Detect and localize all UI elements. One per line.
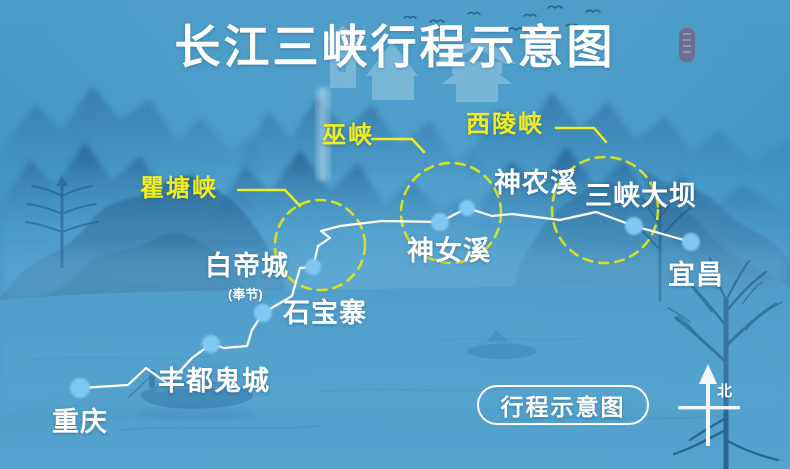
river-route-line (80, 208, 691, 388)
trip-map: 长江三峡行程示意图 瞿塘峡 巫峡 西陵峡 重庆 丰都鬼城 石宝寨 白帝城 (奉节… (0, 0, 790, 469)
stop-dot-shennongxi (459, 200, 475, 216)
gorge-label-qutang: 瞿塘峡 (140, 177, 218, 201)
itinerary-badge-label: 行程示意图 (501, 388, 626, 422)
stop-dot-shennvxi (431, 213, 449, 231)
gorge-label-xiling: 西陵峡 (466, 113, 544, 137)
stop-label-fengdu: 丰都鬼城 (158, 368, 270, 395)
leader-wu (372, 139, 424, 152)
itinerary-badge: 行程示意图 (477, 385, 649, 425)
stop-label-shibaozhai: 石宝寨 (283, 300, 367, 327)
stop-label-yichang: 宜昌 (668, 262, 724, 289)
stop-dot-shibaozhai (254, 304, 272, 322)
stop-label-dam: 三峡大坝 (585, 183, 697, 210)
leader-xiling (556, 128, 606, 142)
stop-label-baidicheng: 白帝城 (205, 253, 289, 280)
page-title: 长江三峡行程示意图 (0, 22, 790, 73)
stop-label-shennongxi: 神农溪 (494, 170, 578, 197)
stop-dot-yichang (682, 233, 700, 251)
stop-dot-dam (625, 217, 643, 235)
stop-label-chongqing: 重庆 (52, 409, 108, 436)
stop-sublabel-baidicheng: (奉节) (228, 288, 263, 301)
gorge-label-wu: 巫峡 (322, 124, 374, 148)
north-arrow-icon (699, 364, 717, 384)
stop-label-shennvxi: 神女溪 (407, 238, 491, 265)
stop-dot-baidicheng (305, 259, 321, 275)
leader-qutang (238, 190, 300, 206)
compass-north-label: 北 (717, 380, 732, 401)
compass-rose (678, 364, 740, 446)
stop-dot-chongqing (70, 378, 90, 398)
stop-dot-fengdu (202, 335, 220, 353)
gorge-circles (275, 157, 658, 290)
